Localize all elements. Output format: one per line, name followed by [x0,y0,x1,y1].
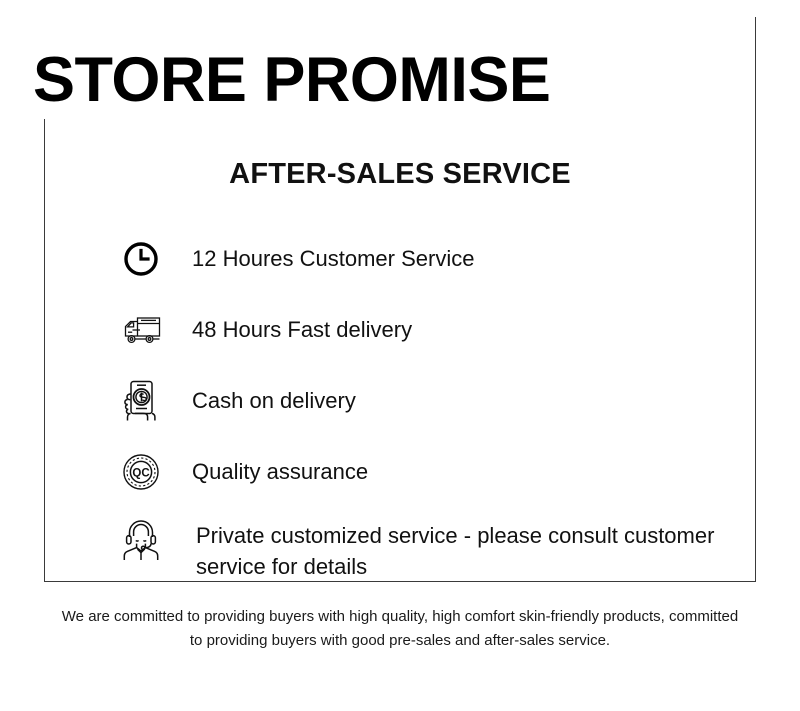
list-item-label: Quality assurance [170,461,368,483]
section-subtitle: AFTER-SALES SERVICE [45,158,755,191]
svg-text:QC: QC [132,467,149,479]
footer-line-1: We are committed to providing buyers wit… [62,608,665,625]
list-item-label: Cash on delivery [170,390,356,412]
store-promise-banner: STORE PROMISE AFTER-SALES SERVICE 12 Hou… [0,0,800,711]
qc-badge-icon: QC [112,446,170,498]
delivery-truck-icon [112,304,170,356]
clock-icon [112,233,170,285]
list-item-label: 12 Houres Customer Service [170,248,474,270]
list-item: Private customized service - please cons… [112,512,732,582]
page-title: STORE PROMISE [33,49,550,112]
list-item-label: 48 Hours Fast delivery [170,319,412,341]
promise-list: 12 Houres Customer Service [112,228,732,582]
customer-support-agent-icon [112,514,170,566]
list-item: Cash on delivery [112,370,732,432]
list-item: 12 Houres Customer Service [112,228,732,290]
footer-note: We are committed to providing buyers wit… [60,605,740,654]
cash-on-delivery-icon [112,375,170,427]
frame-right-border [755,17,756,582]
list-item-label: Private customized service - please cons… [170,512,732,582]
list-item: QC Quality assurance [112,441,732,503]
list-item: 48 Hours Fast delivery [112,299,732,361]
